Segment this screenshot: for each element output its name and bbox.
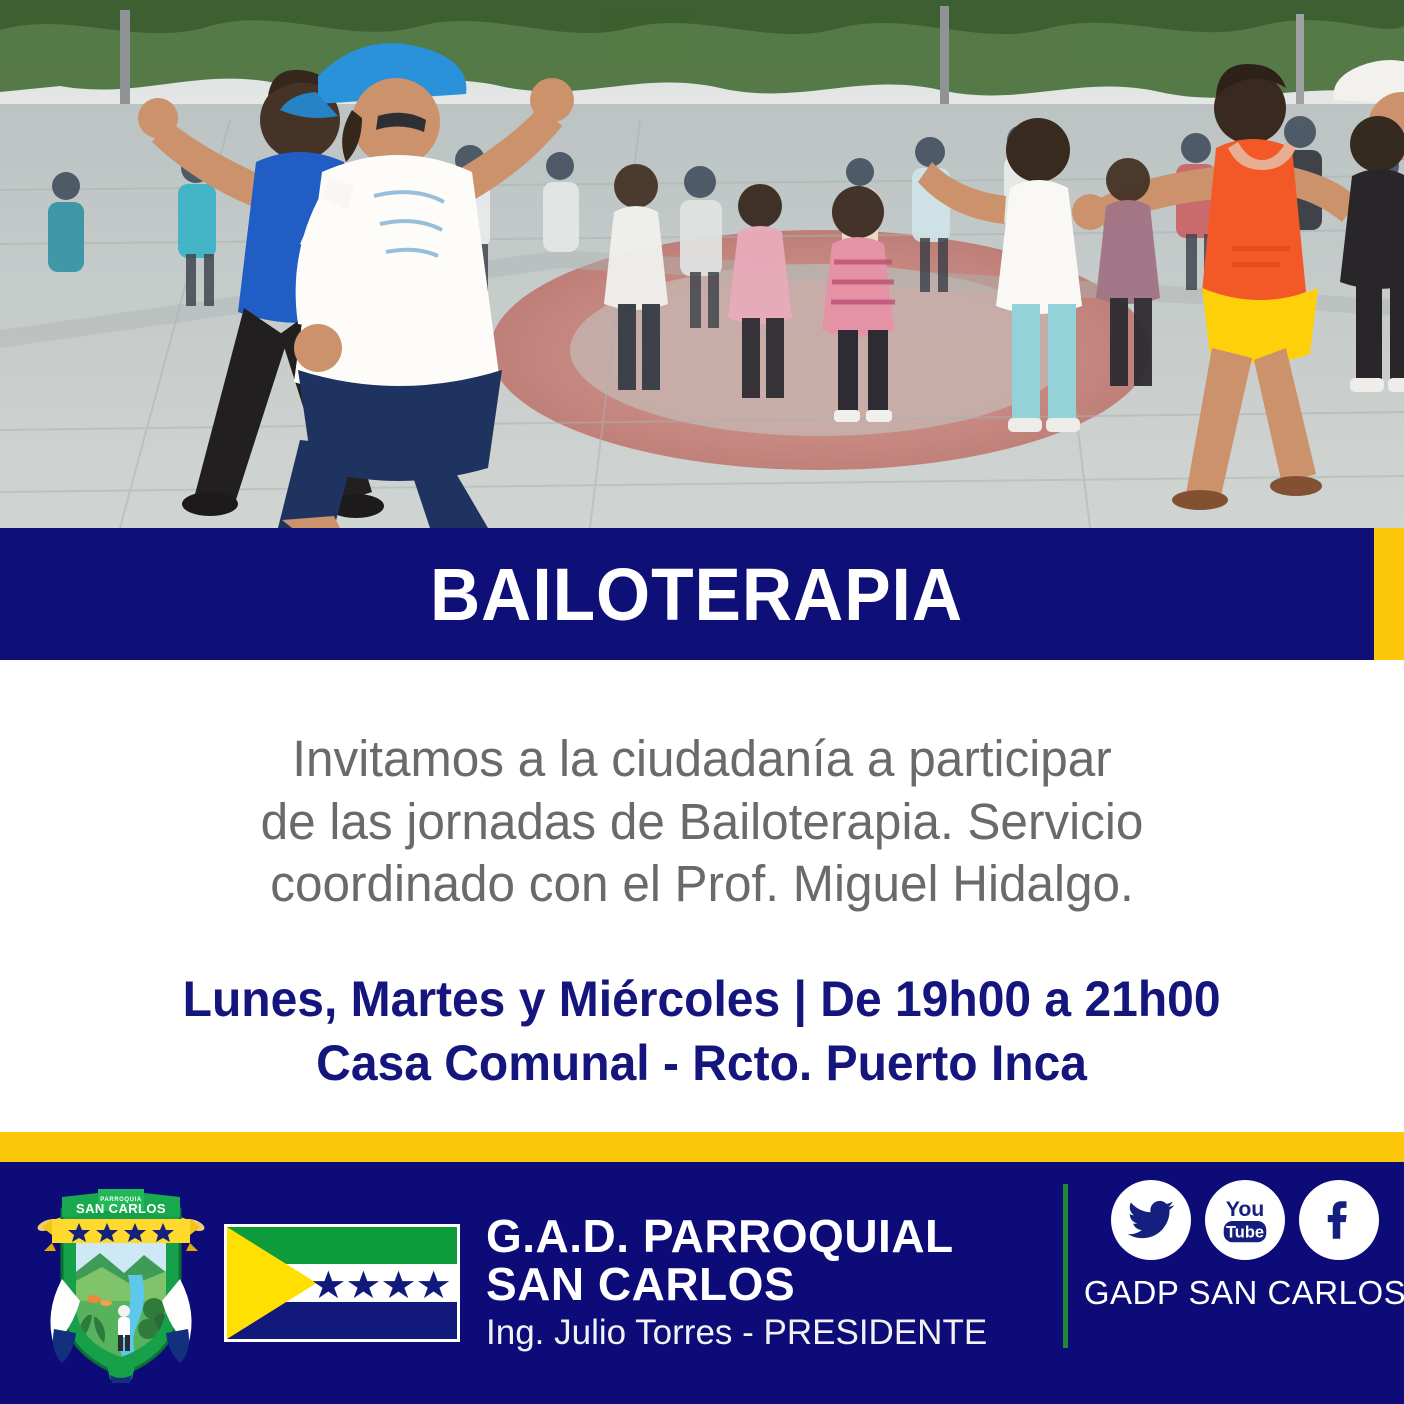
org-name-line-1: G.A.D. PARROQUIAL xyxy=(486,1213,987,1260)
coat-of-arms-icon: PARROQUIA SAN CARLOS xyxy=(32,1183,210,1383)
hero-photo xyxy=(0,0,1404,528)
page-title: BAILOTERAPIA xyxy=(430,552,963,637)
footer-divider xyxy=(1063,1184,1068,1348)
footer: PARROQUIA SAN CARLOS xyxy=(0,1162,1404,1404)
coat-of-arms-illustration: PARROQUIA SAN CARLOS xyxy=(32,1183,210,1383)
schedule-days-time: Lunes, Martes y Miércoles | De 19h00 a 2… xyxy=(183,968,1221,1032)
photo-illustration xyxy=(0,0,1404,528)
facebook-f-glyph xyxy=(1314,1195,1364,1245)
youtube-icon[interactable]: You Tube xyxy=(1205,1180,1285,1260)
intro-paragraph: Invitamos a la ciudadanía a participar d… xyxy=(261,728,1144,916)
twitter-icon[interactable] xyxy=(1111,1180,1191,1260)
org-president: Ing. Julio Torres - PRESIDENTE xyxy=(486,1313,987,1353)
intro-line-1: Invitamos a la ciudadanía a participar xyxy=(261,728,1144,791)
social-handle: GADP SAN CARLOS xyxy=(1084,1274,1404,1312)
poster-root: BAILOTERAPIA Invitamos a la ciudadanía a… xyxy=(0,0,1404,1404)
intro-line-3: coordinado con el Prof. Miguel Hidalgo. xyxy=(261,853,1144,916)
organization-block: G.A.D. PARROQUIAL SAN CARLOS Ing. Julio … xyxy=(486,1213,987,1353)
youtube-glyph: You Tube xyxy=(1216,1191,1274,1249)
facebook-icon[interactable] xyxy=(1299,1180,1379,1260)
flag-illustration xyxy=(227,1227,457,1339)
social-icons: You Tube xyxy=(1111,1180,1379,1260)
schedule-block: Lunes, Martes y Miércoles | De 19h00 a 2… xyxy=(183,968,1221,1095)
youtube-text-top: You xyxy=(1226,1197,1265,1221)
svg-text:SAN CARLOS: SAN CARLOS xyxy=(76,1201,166,1216)
body-section: Invitamos a la ciudadanía a participar d… xyxy=(0,660,1404,1132)
org-name-line-2: SAN CARLOS xyxy=(486,1261,987,1308)
social-block: You Tube GADP SAN CARLOS xyxy=(1100,1180,1390,1312)
title-banner-accent xyxy=(1374,528,1404,660)
twitter-bird-glyph xyxy=(1126,1195,1176,1245)
intro-line-2: de las jornadas de Bailoterapia. Servici… xyxy=(261,791,1144,854)
youtube-text-bottom: Tube xyxy=(1226,1223,1264,1241)
gold-divider xyxy=(0,1132,1404,1162)
flag-icon xyxy=(224,1224,460,1342)
schedule-venue: Casa Comunal - Rcto. Puerto Inca xyxy=(183,1032,1221,1096)
title-banner: BAILOTERAPIA xyxy=(0,528,1404,660)
